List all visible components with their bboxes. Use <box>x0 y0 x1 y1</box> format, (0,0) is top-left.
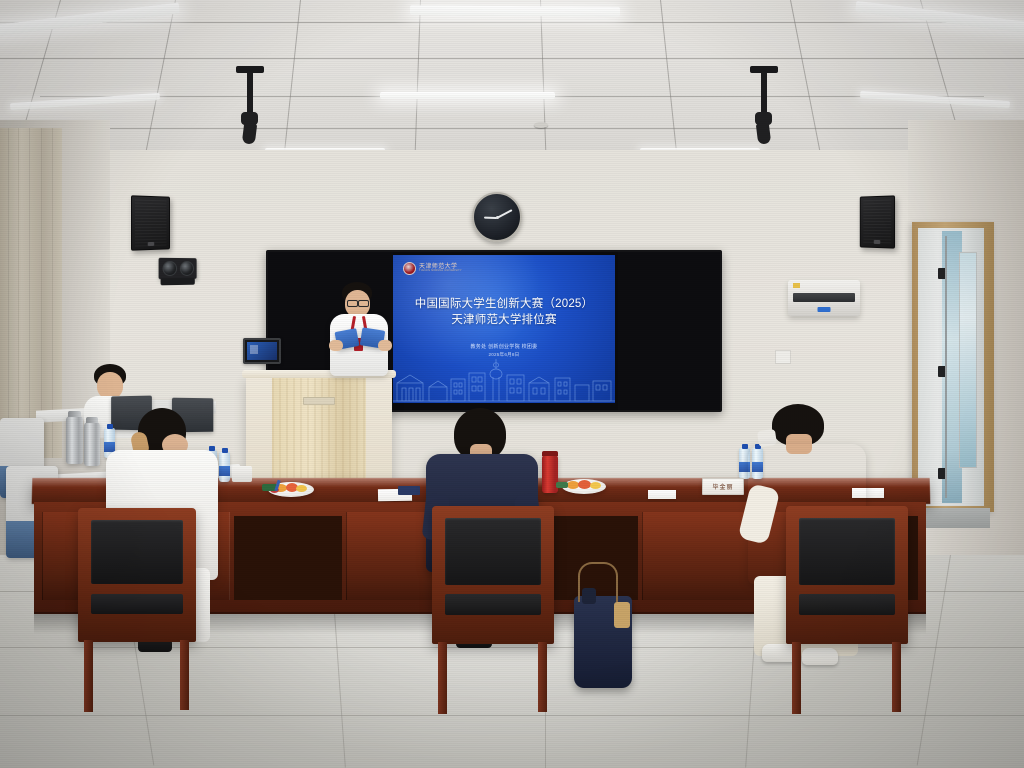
staff-head <box>97 372 123 399</box>
ceiling-projector-mount-left <box>232 66 268 146</box>
window-curtain <box>0 128 62 458</box>
air-conditioner <box>788 280 860 316</box>
open-door[interactable] <box>918 228 984 506</box>
ceiling-projector-mount-right <box>746 66 782 146</box>
logo-seal-icon <box>403 262 416 275</box>
handbag-clasp <box>582 588 596 604</box>
chair-leg <box>438 642 447 714</box>
person-presenter <box>326 282 396 382</box>
glasses-icon <box>347 300 358 307</box>
slide-subtitle-date: 2025年6月8日 <box>393 352 615 358</box>
door-threshold <box>918 508 990 528</box>
door-frame <box>912 222 994 512</box>
handbag <box>574 596 632 688</box>
steel-flask <box>66 416 83 464</box>
handbag-flap <box>614 602 630 628</box>
chair-leg <box>84 640 93 712</box>
slide-subtitle-organizers: 教务处 创新创业学院 校团委 <box>393 343 615 350</box>
lectern-plaque <box>303 397 335 405</box>
dual-camera-mount <box>159 258 197 279</box>
door-glass-panel <box>959 252 977 468</box>
notebook <box>398 486 420 495</box>
presentation-slide: 天津师范大学 TIANJIN NORMAL UNIVERSITY 中国国际大学生… <box>393 255 615 403</box>
name-plate: 毕金丽 <box>702 478 744 495</box>
conference-chair-1[interactable] <box>78 508 196 642</box>
fruit-plate <box>562 479 606 494</box>
chair-leg <box>538 642 547 712</box>
garnish <box>556 482 568 488</box>
chair-leg <box>792 642 801 714</box>
wall-clock <box>472 192 522 242</box>
document-paper <box>648 490 676 499</box>
glasses-icon <box>358 300 369 307</box>
presenter-hand <box>329 340 343 351</box>
name-plate-text: 毕金丽 <box>712 482 733 491</box>
wall-speaker-right <box>860 195 895 248</box>
podium-control-panel[interactable] <box>243 338 281 364</box>
logo-name-en: TIANJIN NORMAL UNIVERSITY <box>419 270 462 273</box>
conference-chair-3[interactable] <box>786 506 908 644</box>
conference-room-photo: 天津师范大学 TIANJIN NORMAL UNIVERSITY 中国国际大学生… <box>0 0 1024 768</box>
slide-title-line-2: 天津师范大学排位赛 <box>393 311 615 327</box>
university-logo: 天津师范大学 TIANJIN NORMAL UNIVERSITY <box>403 262 462 275</box>
chair-leg <box>180 640 189 710</box>
door-push-bar[interactable] <box>945 236 947 498</box>
presenter-hand <box>378 340 392 351</box>
conference-chair-2[interactable] <box>432 506 554 644</box>
smoke-detector-icon <box>534 122 548 128</box>
slide-title-line-1: 中国国际大学生创新大赛（2025） <box>393 295 615 311</box>
lectern <box>246 375 392 487</box>
city-skyline-graphic <box>393 357 615 403</box>
wall-speaker-left <box>131 195 170 250</box>
chair-leg <box>892 642 901 712</box>
sneaker <box>802 648 838 665</box>
tissue-box <box>232 466 252 482</box>
wall-outlet-plate <box>775 350 791 364</box>
